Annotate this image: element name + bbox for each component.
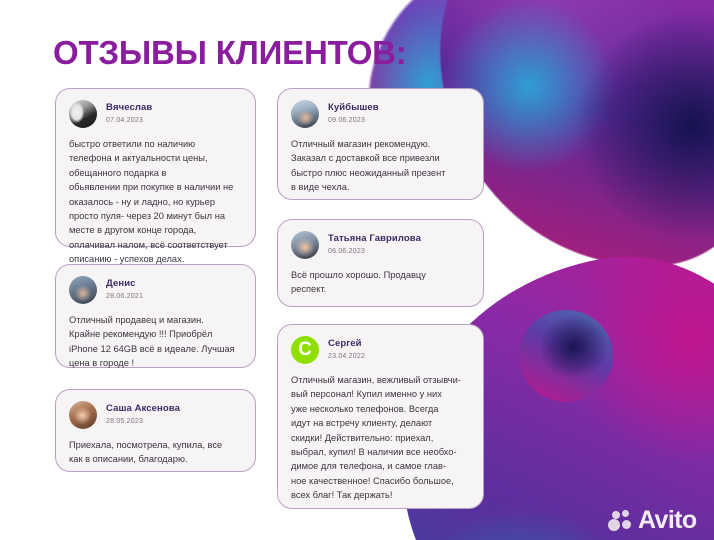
review-text: Отличный магазин, вежливый отзывчи- вый … bbox=[291, 373, 470, 503]
review-date: 28.05.2023 bbox=[106, 417, 180, 426]
review-header: Вячеслав 07.04.2023 bbox=[69, 100, 242, 128]
page-title: ОТЗЫВЫ КЛИЕНТОВ: bbox=[53, 34, 407, 72]
review-date: 28.06.2021 bbox=[106, 292, 143, 301]
review-date: 09.06.2023 bbox=[328, 116, 379, 125]
review-card[interactable]: Татьяна Гаврилова 06.06.2023 Всё прошло … bbox=[277, 219, 484, 307]
avatar bbox=[291, 231, 319, 259]
gradient-circle-accent bbox=[519, 310, 613, 402]
review-meta: Денис 28.06.2021 bbox=[106, 279, 143, 301]
avito-logo: Avito bbox=[608, 508, 697, 533]
reviewer-name: Вячеслав bbox=[106, 103, 152, 114]
avatar bbox=[69, 276, 97, 304]
review-card[interactable]: Куйбышев 09.06.2023 Отличный магазин рек… bbox=[277, 88, 484, 200]
avatar bbox=[291, 100, 319, 128]
review-meta: Татьяна Гаврилова 06.06.2023 bbox=[328, 234, 421, 256]
avito-wordmark: Avito bbox=[638, 508, 697, 533]
review-header: Саша Аксенова 28.05.2023 bbox=[69, 401, 242, 429]
avatar-initial: C bbox=[298, 340, 312, 359]
review-meta: Куйбышев 09.06.2023 bbox=[328, 103, 379, 125]
review-poster: ОТЗЫВЫ КЛИЕНТОВ: Вячеслав 07.04.2023 быс… bbox=[0, 0, 714, 540]
avatar bbox=[69, 100, 97, 128]
avatar: C bbox=[291, 336, 319, 364]
review-text: Всё прошло хорошо. Продавцу респект. bbox=[291, 268, 470, 297]
review-card[interactable]: C Сергей 23.04.2022 Отличный магазин, ве… bbox=[277, 324, 484, 509]
reviewer-name: Сергей bbox=[328, 339, 365, 350]
review-header: C Сергей 23.04.2022 bbox=[291, 336, 470, 364]
review-text: Отличный продавец и магазин. Крайне реко… bbox=[69, 313, 242, 371]
reviewer-name: Саша Аксенова bbox=[106, 404, 180, 415]
reviewer-name: Куйбышев bbox=[328, 103, 379, 114]
review-card[interactable]: Саша Аксенова 28.05.2023 Приехала, посмо… bbox=[55, 389, 256, 472]
review-meta: Вячеслав 07.04.2023 bbox=[106, 103, 152, 125]
review-text: Приехала, посмотрела, купила, все как в … bbox=[69, 438, 242, 467]
reviewer-name: Татьяна Гаврилова bbox=[328, 234, 421, 245]
reviewer-name: Денис bbox=[106, 279, 143, 290]
review-header: Куйбышев 09.06.2023 bbox=[291, 100, 470, 128]
avito-dots-icon bbox=[608, 510, 632, 532]
review-card[interactable]: Денис 28.06.2021 Отличный продавец и маг… bbox=[55, 264, 256, 368]
review-date: 07.04.2023 bbox=[106, 116, 152, 125]
review-meta: Сергей 23.04.2022 bbox=[328, 339, 365, 361]
review-header: Татьяна Гаврилова 06.06.2023 bbox=[291, 231, 470, 259]
review-card[interactable]: Вячеслав 07.04.2023 быстро ответили по н… bbox=[55, 88, 256, 247]
review-date: 06.06.2023 bbox=[328, 247, 421, 256]
avatar bbox=[69, 401, 97, 429]
review-text: Отличный магазин рекомендую. Заказал с д… bbox=[291, 137, 470, 195]
review-header: Денис 28.06.2021 bbox=[69, 276, 242, 304]
review-text: быстро ответили по наличию телефона и ак… bbox=[69, 137, 242, 267]
review-meta: Саша Аксенова 28.05.2023 bbox=[106, 404, 180, 426]
review-date: 23.04.2022 bbox=[328, 352, 365, 361]
